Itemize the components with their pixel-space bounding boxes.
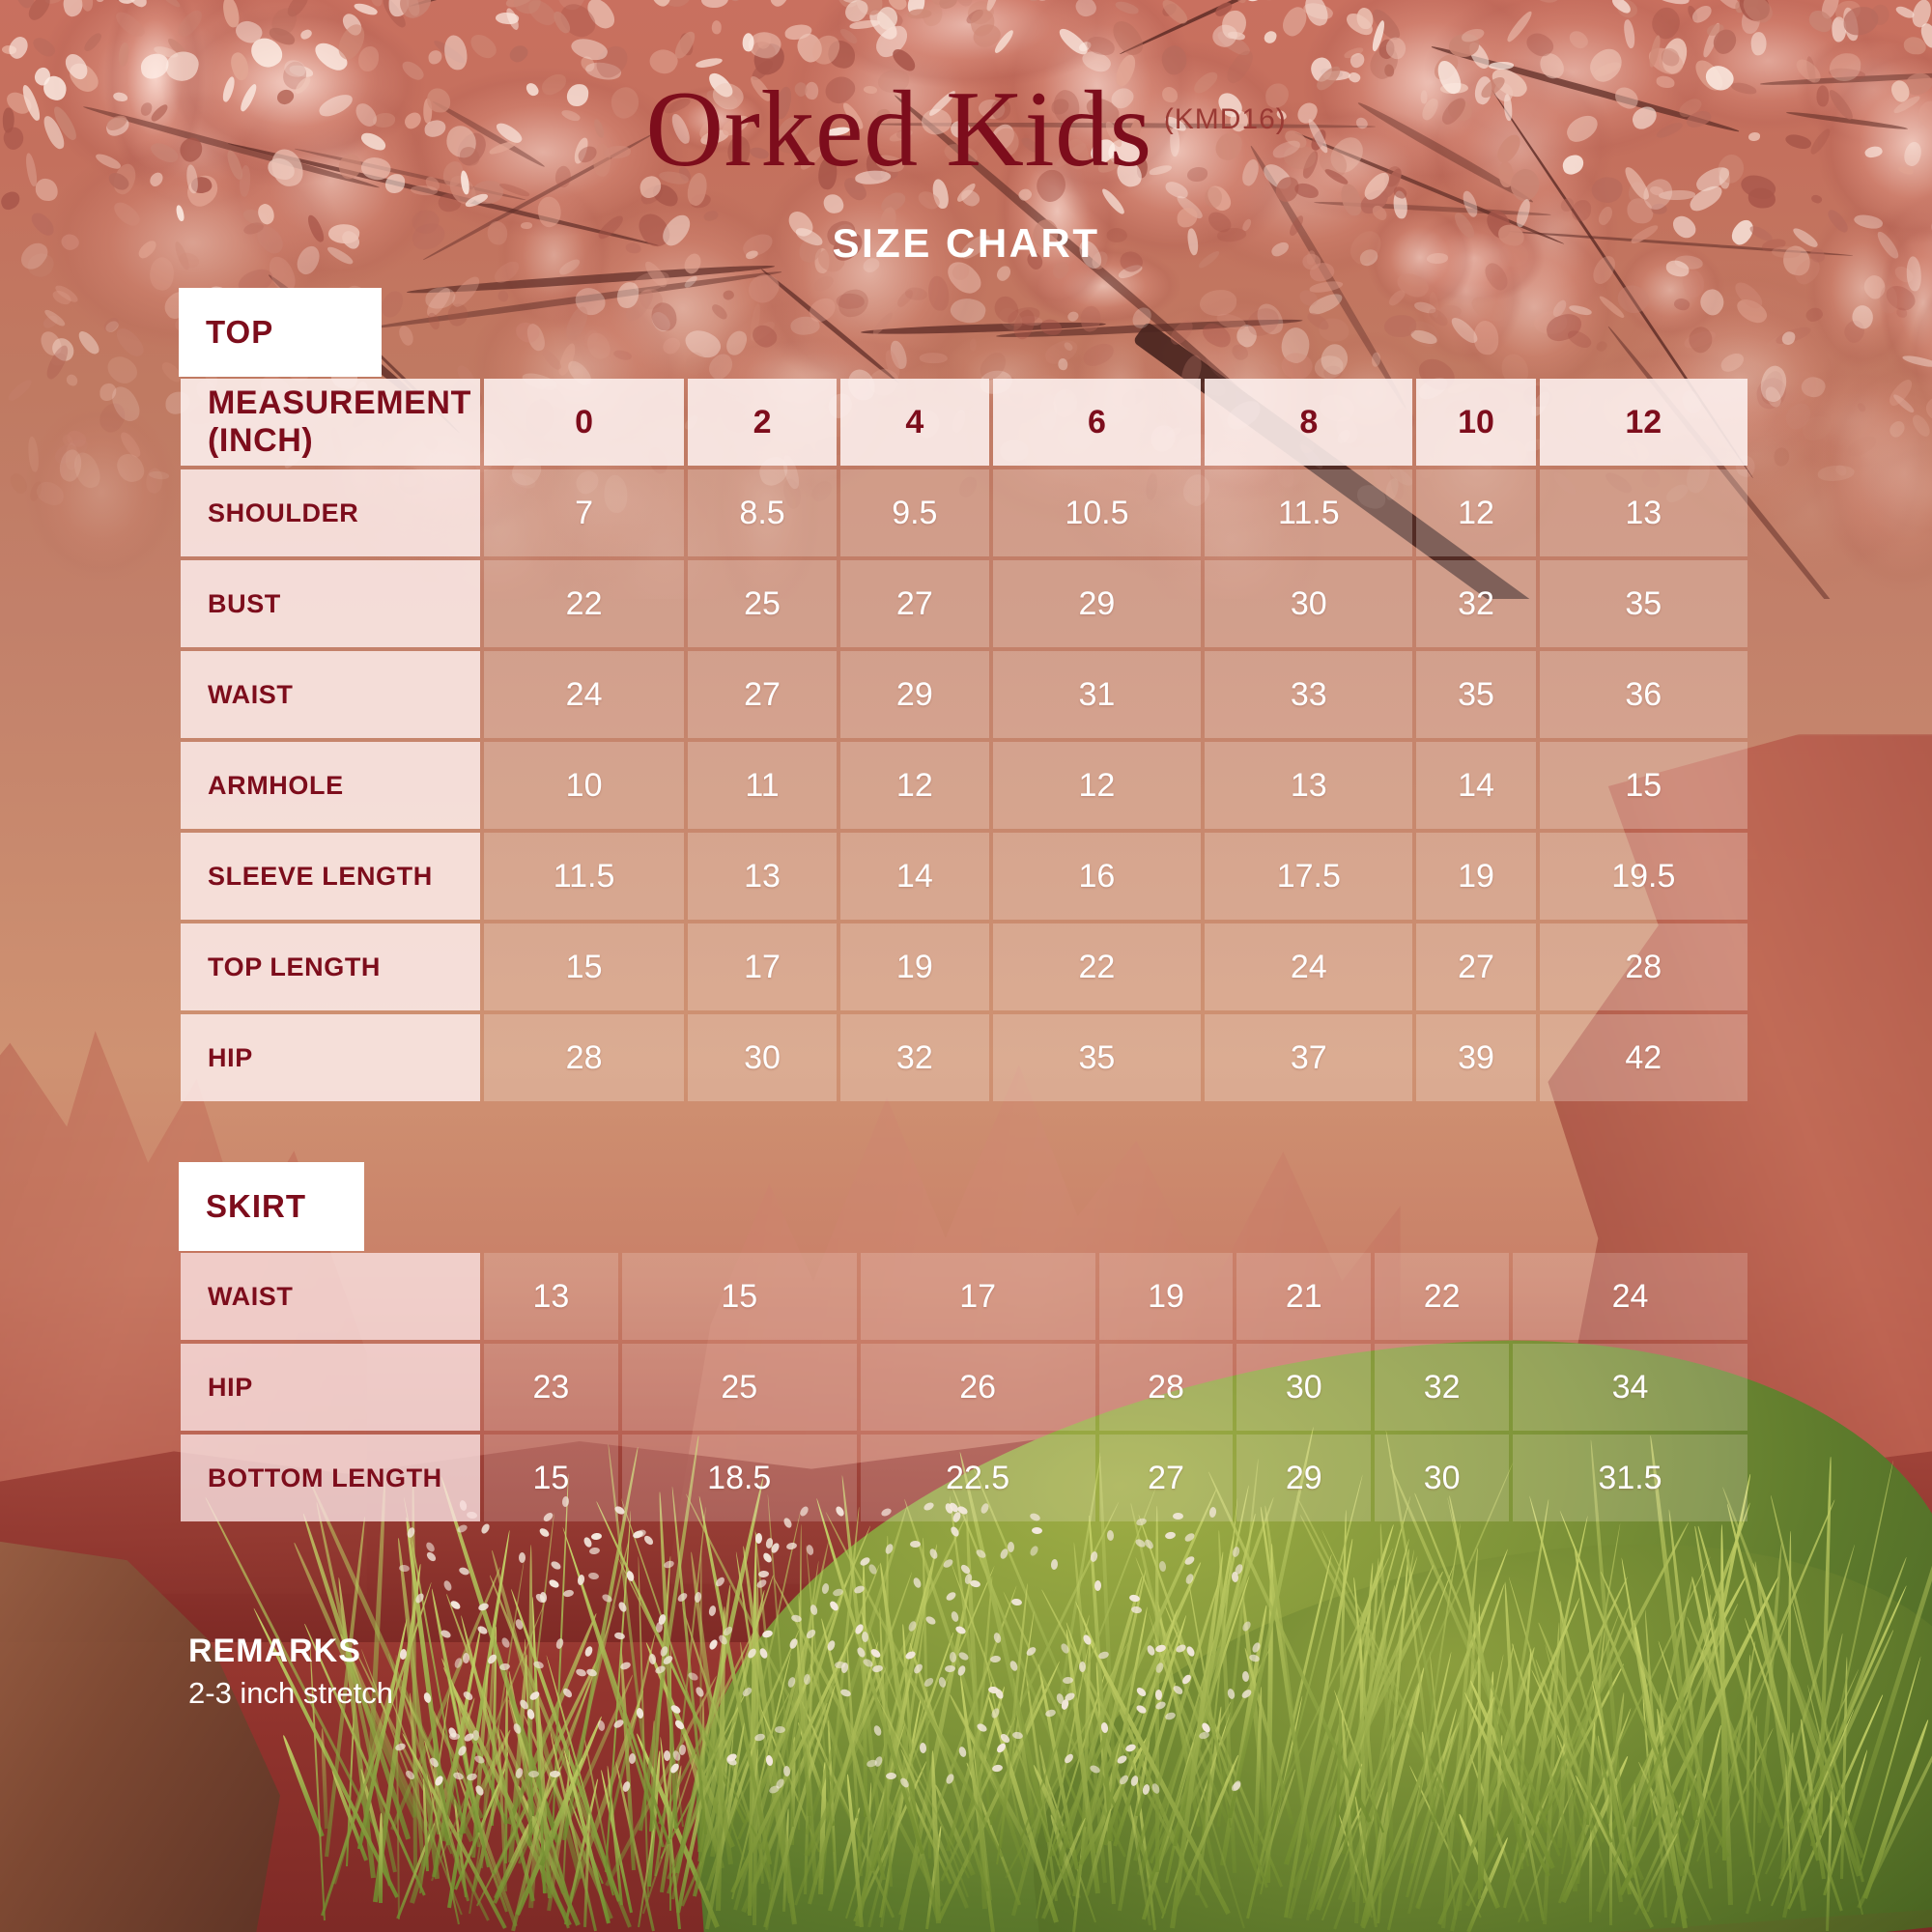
measurement-cell: 42 (1540, 1014, 1747, 1101)
row-label: HIP (181, 1344, 480, 1431)
measurement-cell: 26 (861, 1344, 1095, 1431)
measurement-cell: 12 (840, 742, 989, 829)
row-label: BUST (181, 560, 480, 647)
section-tab-skirt: SKIRT (179, 1162, 364, 1251)
measurement-cell: 17.5 (1205, 833, 1412, 920)
measurement-cell: 39 (1416, 1014, 1535, 1101)
header-cell-size: 12 (1540, 379, 1747, 466)
measurement-cell: 24 (484, 651, 684, 738)
measurement-cell: 28 (1099, 1344, 1234, 1431)
measurement-cell: 29 (993, 560, 1201, 647)
measurement-cell: 13 (688, 833, 837, 920)
measurement-cell: 14 (1416, 742, 1535, 829)
measurement-cell: 27 (688, 651, 837, 738)
measurement-cell: 12 (993, 742, 1201, 829)
measurement-cell: 22 (993, 923, 1201, 1010)
product-code: (KMD16) (1164, 103, 1287, 135)
measurement-cell: 12 (1416, 469, 1535, 556)
row-label: TOP LENGTH (181, 923, 480, 1010)
table-row: ARMHOLE10111212131415 (181, 742, 1747, 829)
row-label: ARMHOLE (181, 742, 480, 829)
measurement-cell: 31 (993, 651, 1201, 738)
measurement-cell: 15 (1540, 742, 1747, 829)
measurement-cell: 13 (1540, 469, 1747, 556)
table-row: BOTTOM LENGTH1518.522.527293031.5 (181, 1435, 1747, 1521)
measurement-cell: 17 (861, 1253, 1095, 1340)
measurement-cell: 34 (1513, 1344, 1747, 1431)
measurement-cell: 31.5 (1513, 1435, 1747, 1521)
row-label: SLEEVE LENGTH (181, 833, 480, 920)
measurement-cell: 25 (688, 560, 837, 647)
measurement-cell: 30 (1205, 560, 1412, 647)
remarks-block: REMARKS 2-3 inch stretch (188, 1633, 393, 1711)
measurement-cell: 11 (688, 742, 837, 829)
measurement-cell: 19.5 (1540, 833, 1747, 920)
measurement-cell: 27 (1099, 1435, 1234, 1521)
measurement-cell: 11.5 (484, 833, 684, 920)
measurement-cell: 19 (1416, 833, 1535, 920)
header-cell-size: 4 (840, 379, 989, 466)
measurement-cell: 8.5 (688, 469, 837, 556)
measurement-cell: 30 (688, 1014, 837, 1101)
measurement-cell: 13 (1205, 742, 1412, 829)
measurement-cell: 33 (1205, 651, 1412, 738)
measurement-cell: 32 (1375, 1344, 1509, 1431)
header-cell-size: 10 (1416, 379, 1535, 466)
row-label: BOTTOM LENGTH (181, 1435, 480, 1521)
table-row: SHOULDER78.59.510.511.51213 (181, 469, 1747, 556)
measurement-cell: 16 (993, 833, 1201, 920)
section-tab-top: TOP (179, 288, 382, 377)
row-label: WAIST (181, 1253, 480, 1340)
table-row: HIP28303235373942 (181, 1014, 1747, 1101)
measurement-cell: 28 (1540, 923, 1747, 1010)
measurement-cell: 35 (1540, 560, 1747, 647)
measurement-cell: 11.5 (1205, 469, 1412, 556)
table-row: BUST22252729303235 (181, 560, 1747, 647)
measurement-cell: 15 (484, 1435, 618, 1521)
table-row: HIP23252628303234 (181, 1344, 1747, 1431)
measurement-cell: 14 (840, 833, 989, 920)
remarks-title: REMARKS (188, 1633, 393, 1670)
table-row: TOP LENGTH15171922242728 (181, 923, 1747, 1010)
measurement-cell: 18.5 (622, 1435, 857, 1521)
remarks-text: 2-3 inch stretch (188, 1676, 393, 1711)
brand-title: Orked Kids(KMD16) (0, 75, 1932, 184)
measurement-cell: 24 (1205, 923, 1412, 1010)
row-label: HIP (181, 1014, 480, 1101)
measurement-cell: 19 (1099, 1253, 1234, 1340)
measurement-cell: 35 (993, 1014, 1201, 1101)
measurement-cell: 21 (1236, 1253, 1371, 1340)
measurement-cell: 27 (1416, 923, 1535, 1010)
measurement-cell: 15 (622, 1253, 857, 1340)
header-cell-size: 8 (1205, 379, 1412, 466)
section-tab-skirt-label: SKIRT (206, 1188, 306, 1225)
measurement-cell: 32 (840, 1014, 989, 1101)
row-label: WAIST (181, 651, 480, 738)
measurement-cell: 7 (484, 469, 684, 556)
measurement-cell: 32 (1416, 560, 1535, 647)
measurement-cell: 10 (484, 742, 684, 829)
measurement-cell: 29 (1236, 1435, 1371, 1521)
header-cell-size: 6 (993, 379, 1201, 466)
table-header-row: MEASUREMENT (INCH)024681012 (181, 379, 1747, 466)
measurement-cell: 35 (1416, 651, 1535, 738)
measurement-cell: 29 (840, 651, 989, 738)
brand-name: Orked Kids (645, 70, 1151, 189)
table-row: WAIST24272931333536 (181, 651, 1747, 738)
row-label: SHOULDER (181, 469, 480, 556)
measurement-cell: 13 (484, 1253, 618, 1340)
measurement-cell: 37 (1205, 1014, 1412, 1101)
page-subtitle: SIZE CHART (0, 220, 1932, 267)
measurement-cell: 22.5 (861, 1435, 1095, 1521)
measurement-cell: 22 (1375, 1253, 1509, 1340)
measurement-cell: 9.5 (840, 469, 989, 556)
measurement-cell: 36 (1540, 651, 1747, 738)
measurement-cell: 22 (484, 560, 684, 647)
header-cell-size: 2 (688, 379, 837, 466)
measurement-cell: 27 (840, 560, 989, 647)
measurement-cell: 15 (484, 923, 684, 1010)
measurement-cell: 10.5 (993, 469, 1201, 556)
header-cell-measurement: MEASUREMENT (INCH) (181, 379, 480, 466)
measurement-cell: 28 (484, 1014, 684, 1101)
size-table-skirt: WAIST13151719212224HIP23252628303234BOTT… (177, 1249, 1751, 1525)
measurement-cell: 25 (622, 1344, 857, 1431)
measurement-cell: 30 (1236, 1344, 1371, 1431)
section-tab-top-label: TOP (206, 314, 273, 351)
measurement-cell: 30 (1375, 1435, 1509, 1521)
size-table-top: MEASUREMENT (INCH)024681012SHOULDER78.59… (177, 375, 1751, 1105)
table-row: WAIST13151719212224 (181, 1253, 1747, 1340)
measurement-cell: 19 (840, 923, 989, 1010)
measurement-cell: 23 (484, 1344, 618, 1431)
measurement-cell: 24 (1513, 1253, 1747, 1340)
header-cell-size: 0 (484, 379, 684, 466)
chart-content: Orked Kids(KMD16) SIZE CHART TOP MEASURE… (0, 0, 1932, 1932)
measurement-cell: 17 (688, 923, 837, 1010)
table-row: SLEEVE LENGTH11.513141617.51919.5 (181, 833, 1747, 920)
